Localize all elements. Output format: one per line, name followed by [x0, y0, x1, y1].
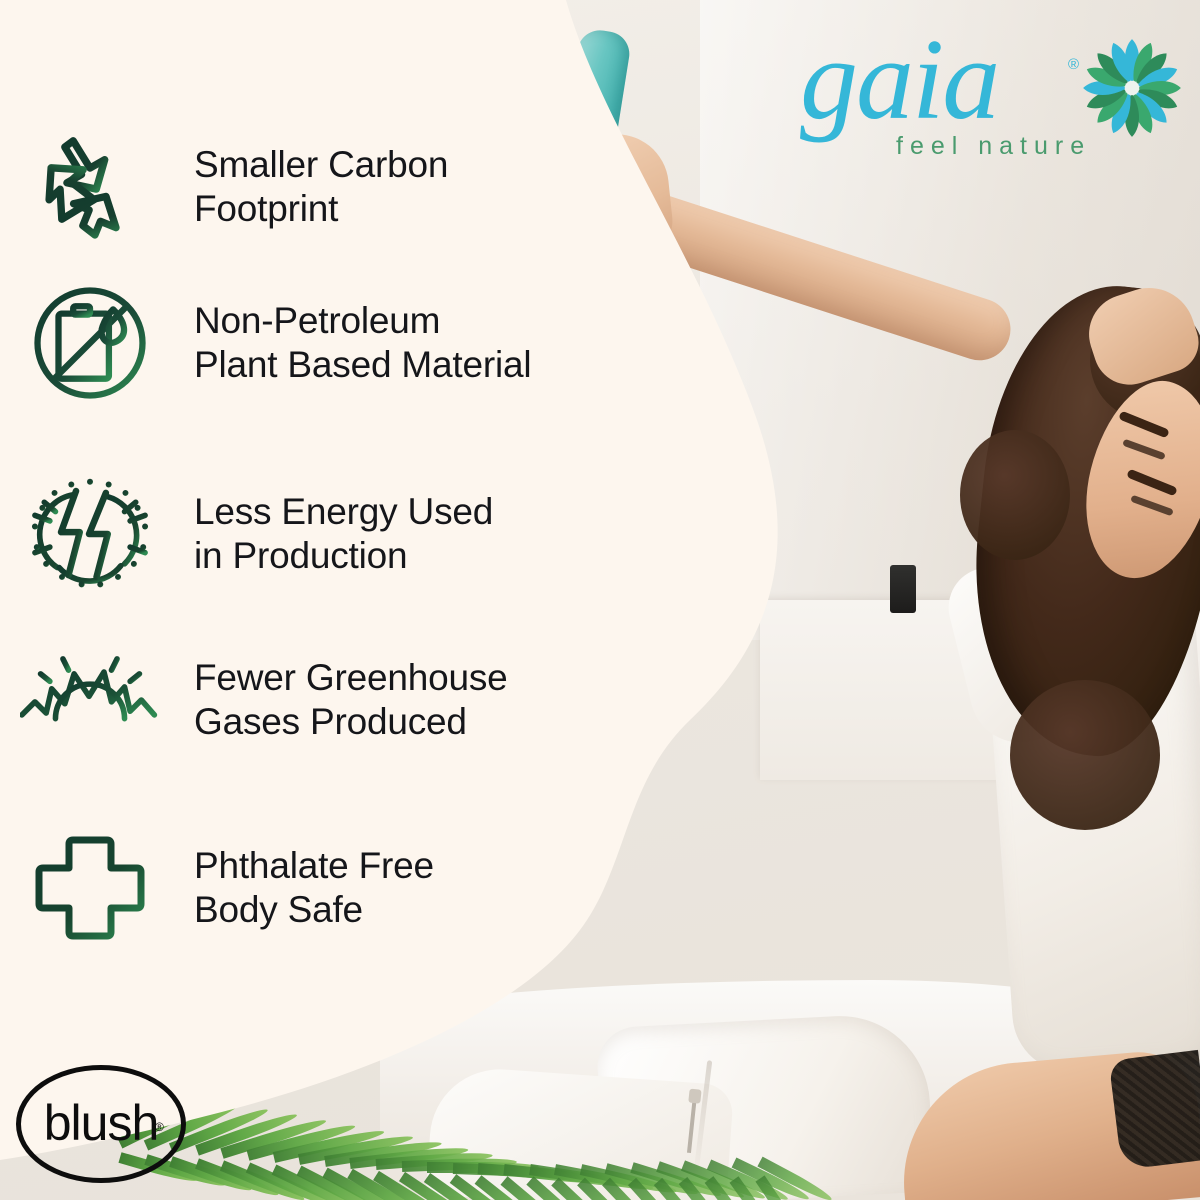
feature-row: Fewer Greenhouse Gases Produced [20, 640, 620, 760]
hair-curl [960, 430, 1070, 560]
feature-label: Non-Petroleum Plant Based Material [194, 299, 531, 388]
gaia-logo: gaia ® feel nature [800, 34, 1172, 166]
no-petroleum-barrel-icon [20, 280, 160, 406]
marketing-infographic: gaia ® feel nature [0, 0, 1200, 1200]
blush-logo: blush ® [16, 1065, 186, 1183]
medical-cross-icon [20, 832, 160, 944]
feature-label: Phthalate Free Body Safe [194, 844, 434, 933]
lightning-energy-icon [20, 470, 160, 598]
black-lace-underwear [1109, 1050, 1200, 1170]
feature-label: Smaller Carbon Footprint [194, 143, 448, 232]
gaia-tagline: feel nature [896, 132, 1091, 161]
feature-label: Fewer Greenhouse Gases Produced [194, 656, 508, 745]
registered-trademark-icon: ® [1068, 56, 1079, 73]
feature-row: Smaller Carbon Footprint [20, 128, 620, 246]
feature-row: Non-Petroleum Plant Based Material [20, 280, 620, 406]
hair-curl [1010, 680, 1160, 830]
gaia-wordmark: gaia [800, 22, 998, 138]
sunrise-horizon-icon [20, 640, 160, 760]
daisy-flower-icon [1080, 36, 1184, 140]
feature-label: Less Energy Used in Production [194, 490, 493, 579]
registered-trademark-icon: ® [155, 1120, 164, 1134]
feature-list: Smaller Carbon Footprint [0, 0, 620, 1060]
recycle-icon [20, 128, 160, 246]
feature-row: Phthalate Free Body Safe [20, 832, 620, 944]
palm-frond [120, 1080, 820, 1200]
candle-object [890, 565, 916, 613]
feature-row: Less Energy Used in Production [20, 470, 620, 598]
